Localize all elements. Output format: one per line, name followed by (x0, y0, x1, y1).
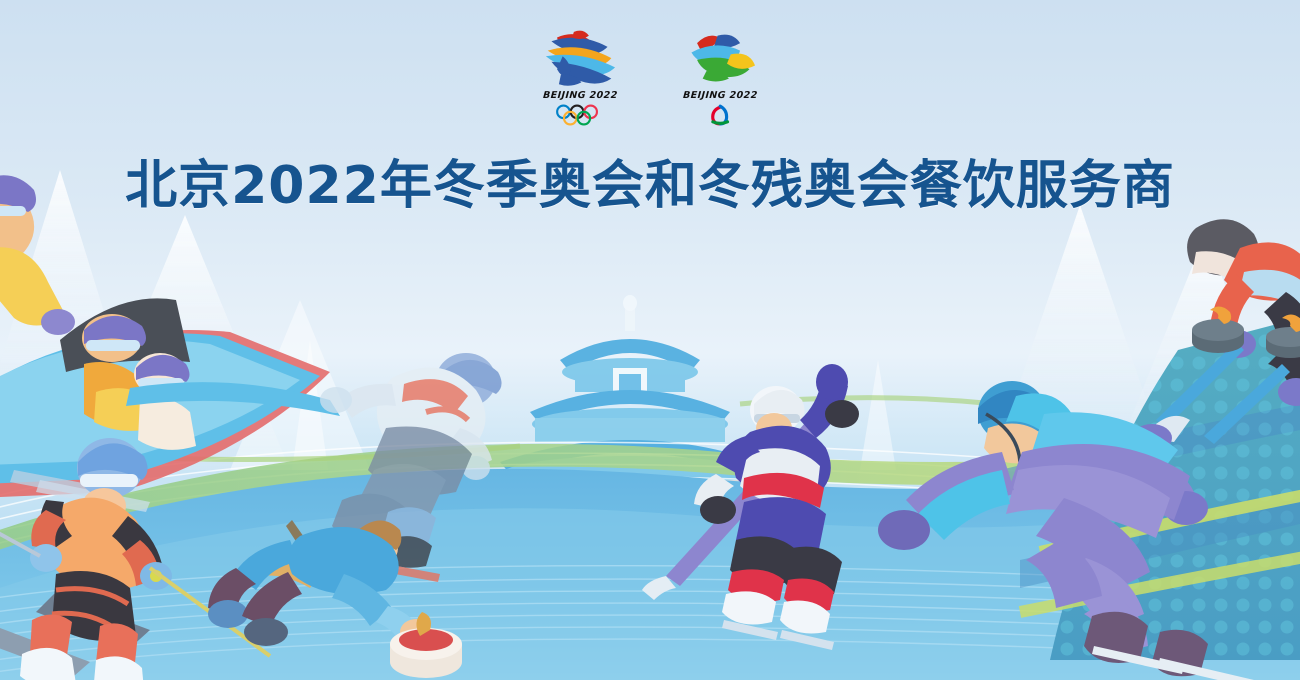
beijing-2022-catering-banner: BEIJING 2022 BEIJING 2022 (0, 0, 1300, 680)
paralympic-agitos-icon (694, 104, 746, 126)
olympic-rings-icon (554, 104, 606, 126)
emblem-row: BEIJING 2022 BEIJING 2022 (0, 30, 1300, 126)
paralympic-emblem: BEIJING 2022 (670, 30, 770, 126)
bobsleigh-team (0, 175, 340, 512)
olympic-emblem: BEIJING 2022 (530, 30, 630, 126)
olympic-wordmark: BEIJING 2022 (542, 90, 617, 101)
speed-skater-long (878, 381, 1254, 680)
winter-dream-emblem-icon (529, 30, 632, 88)
ice-hockey-player (642, 364, 859, 650)
paralympic-wordmark: BEIJING 2022 (682, 90, 757, 101)
page-title: 北京2022年冬季奥会和冬残奥会餐饮服务商 (0, 143, 1300, 218)
leap-emblem-icon (669, 30, 772, 88)
